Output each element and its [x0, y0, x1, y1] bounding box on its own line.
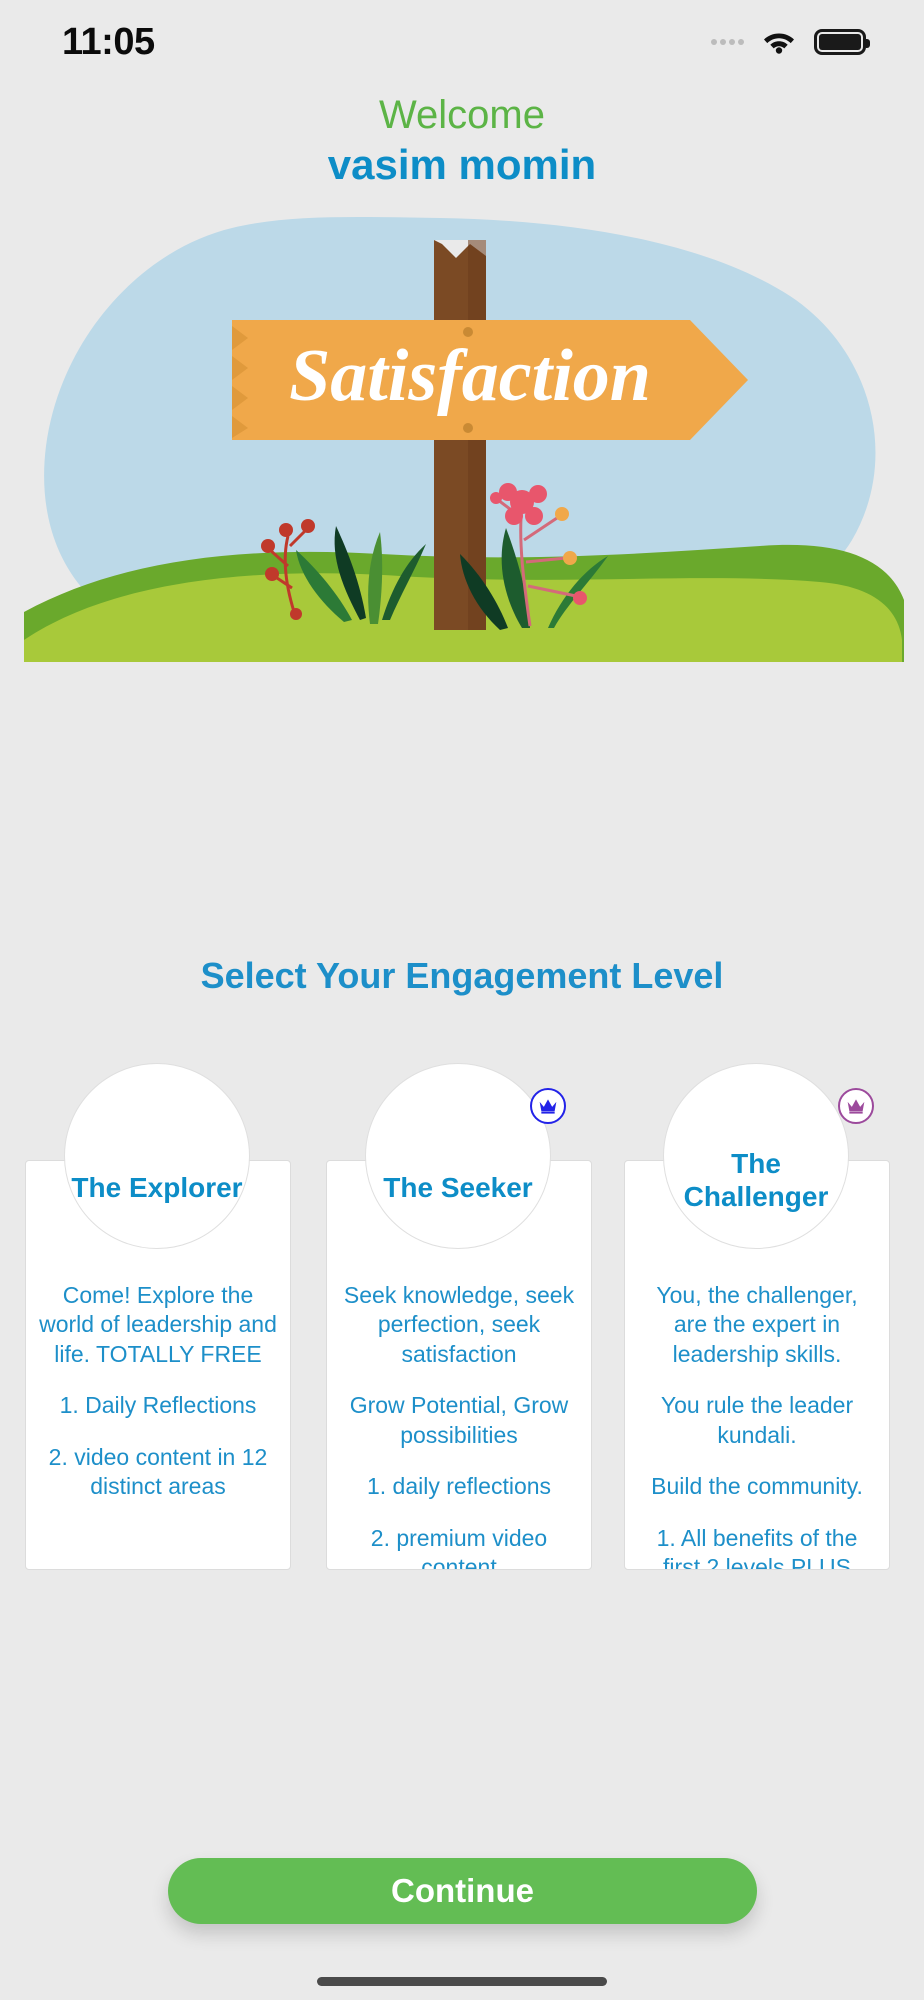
status-bar-time: 11:05 — [62, 21, 155, 64]
signal-dots-icon — [711, 39, 744, 45]
app-screen: 11:05 Welcome vasim momin — [0, 0, 924, 2000]
plan-badge-seeker[interactable]: The Seeker — [365, 1063, 551, 1249]
plan-badge-explorer[interactable]: The Explorer — [64, 1063, 250, 1249]
user-name: vasim momin — [0, 138, 924, 193]
plan-title-challenger: The Challenger — [664, 1147, 848, 1213]
satisfaction-signpost-illustration: Satisfaction — [0, 210, 924, 670]
plan-title-seeker: The Seeker — [375, 1171, 540, 1204]
plan-badge-challenger[interactable]: The Challenger — [663, 1063, 849, 1249]
crown-icon-challenger — [838, 1088, 874, 1124]
plan-feature-item: 1. daily reflections — [339, 1472, 579, 1501]
plan-description: Come! Explore the world of leadership an… — [38, 1281, 278, 1369]
plan-description: Grow Potential, Grow possibilities — [339, 1391, 579, 1450]
plan-feature-item: 2. premium video content — [339, 1524, 579, 1570]
plan-feature-item: 2. video content in 12 distinct areas — [38, 1443, 278, 1502]
plan-description: Build the community. — [637, 1472, 877, 1501]
engagement-level-options: Come! Explore the world of leadership an… — [0, 1063, 924, 1323]
plan-title-explorer: The Explorer — [63, 1171, 250, 1204]
section-heading: Select Your Engagement Level — [0, 955, 924, 997]
status-bar-icons — [711, 26, 866, 59]
plan-description: Seek knowledge, seek perfection, seek sa… — [339, 1281, 579, 1369]
plan-feature-item: 1. Daily Reflections — [38, 1391, 278, 1420]
welcome-label: Welcome — [0, 92, 924, 138]
crown-icon-seeker — [530, 1088, 566, 1124]
battery-full-icon — [814, 29, 866, 55]
plan-description: You rule the leader kundali. — [637, 1391, 877, 1450]
wifi-icon — [760, 26, 798, 59]
welcome-header: Welcome vasim momin — [0, 92, 924, 193]
plan-feature-item: 1. All benefits of the first 2 levels PL… — [637, 1524, 877, 1570]
continue-button[interactable]: Continue — [168, 1858, 757, 1924]
home-indicator[interactable] — [317, 1977, 607, 1986]
plan-description: You, the challenger, are the expert in l… — [637, 1281, 877, 1369]
status-bar: 11:05 — [0, 0, 924, 84]
svg-text:Satisfaction: Satisfaction — [289, 335, 651, 417]
